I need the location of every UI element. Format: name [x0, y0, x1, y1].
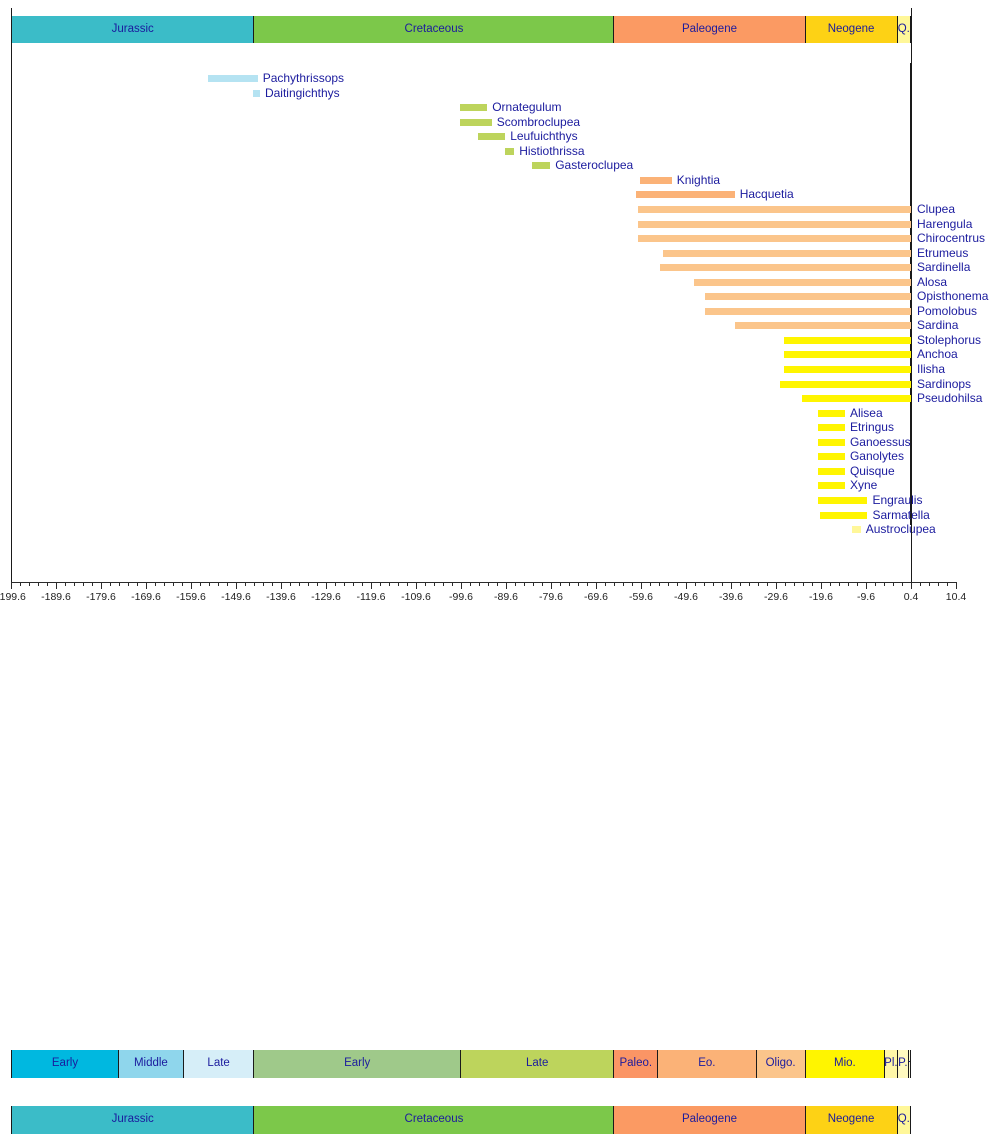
axis-major-tick	[146, 582, 147, 589]
period-cell-jurassic[interactable]: Jurassic	[11, 1106, 254, 1134]
axis-tick-label: -119.6	[357, 591, 386, 603]
epoch-cell-label: Late	[207, 1058, 229, 1070]
taxon-label: Leufuichthys	[510, 130, 577, 143]
period-cell-q[interactable]: Q.	[898, 1106, 911, 1134]
axis-minor-tick	[38, 582, 39, 586]
taxon-label: Quisque	[850, 465, 895, 478]
taxon-range-row[interactable]: Knightia	[12, 177, 910, 188]
axis-tick-label: -69.6	[584, 591, 608, 603]
axis-minor-tick	[164, 582, 165, 586]
taxon-range-bar[interactable]	[705, 308, 912, 315]
epoch-cell-label: Early	[52, 1058, 78, 1070]
axis-minor-tick	[488, 582, 489, 586]
axis-major-tick	[551, 582, 552, 589]
taxon-range-bar[interactable]	[784, 337, 912, 344]
axis-minor-tick	[353, 582, 354, 586]
axis-minor-tick	[767, 582, 768, 586]
taxon-range-bar[interactable]	[253, 90, 260, 97]
taxon-range-row[interactable]: Pomolobus	[12, 308, 910, 319]
axis-minor-tick	[128, 582, 129, 586]
axis-tick-label: -19.6	[809, 591, 833, 603]
axis-minor-tick	[218, 582, 219, 586]
axis-minor-tick	[470, 582, 471, 586]
taxon-label: Stolephorus	[917, 334, 981, 347]
axis-minor-tick	[515, 582, 516, 586]
axis-minor-tick	[20, 582, 21, 586]
axis-tick-label: -79.6	[539, 591, 563, 603]
taxon-range-row[interactable]: Ganolytes	[12, 453, 910, 464]
taxon-range-row[interactable]: Daitingichthys	[12, 90, 910, 101]
axis-major-tick	[56, 582, 57, 589]
axis-minor-tick	[560, 582, 561, 586]
period-cell-label: Jurassic	[112, 1114, 154, 1126]
taxon-label: Etrumeus	[917, 247, 968, 260]
taxon-range-bar[interactable]	[784, 366, 912, 373]
taxon-range-row[interactable]: Leufuichthys	[12, 133, 910, 144]
taxon-range-row[interactable]: Quisque	[12, 468, 910, 479]
taxon-range-row[interactable]: Sardina	[12, 322, 910, 333]
epoch-cell-label: P.	[898, 1058, 907, 1070]
axis-major-tick	[281, 582, 282, 589]
axis-minor-tick	[317, 582, 318, 586]
axis-major-tick	[191, 582, 192, 589]
axis-minor-tick	[344, 582, 345, 586]
axis-tick-label: -179.6	[86, 591, 116, 603]
epoch-cell-oligo[interactable]: Oligo.	[757, 1050, 806, 1078]
axis-major-tick	[461, 582, 462, 589]
axis-minor-tick	[569, 582, 570, 586]
axis-minor-tick	[119, 582, 120, 586]
axis-minor-tick	[623, 582, 624, 586]
taxon-range-bar[interactable]	[663, 250, 912, 257]
axis-tick-label: -29.6	[764, 591, 788, 603]
bottom-epoch-band: EarlyMiddleLateEarlyLatePaleo.Eo.Oligo.M…	[0, 525, 1000, 553]
axis-major-tick	[731, 582, 732, 589]
taxon-range-row[interactable]: Sarmatella	[12, 512, 910, 523]
axis-major-tick	[506, 582, 507, 589]
taxon-range-bar[interactable]	[802, 395, 912, 402]
taxon-label: Pseudohilsa	[917, 392, 982, 405]
top-epoch-band: EarlyMiddleLateEarlyLatePaleo.Eo.Oligo.M…	[0, 37, 1000, 63]
taxon-range-row[interactable]: Alosa	[12, 279, 910, 290]
taxon-label: Sardinella	[917, 261, 970, 274]
axis-minor-tick	[254, 582, 255, 586]
axis-minor-tick	[479, 582, 480, 586]
taxon-label: Engraulis	[872, 494, 922, 507]
epoch-cell-label: Paleo.	[619, 1058, 652, 1070]
bottom-period-band: JurassicCretaceousPaleogeneNeogeneQ.	[0, 553, 1000, 581]
axis-minor-tick	[443, 582, 444, 586]
taxon-range-bar[interactable]	[735, 322, 912, 329]
taxon-range-bar[interactable]	[636, 191, 735, 198]
axis-major-tick	[101, 582, 102, 589]
taxon-range-bar[interactable]	[818, 410, 845, 417]
taxon-range-row[interactable]: Gasteroclupea	[12, 162, 910, 173]
taxon-range-bar[interactable]	[460, 104, 487, 111]
axis-minor-tick	[713, 582, 714, 586]
axis-tick-label: 10.4	[946, 591, 966, 603]
axis-major-tick	[686, 582, 687, 589]
taxon-label: Alisea	[850, 407, 883, 420]
epoch-cell-label: Early	[344, 1058, 370, 1070]
period-cell-label: Q.	[898, 24, 910, 36]
taxon-label: Chirocentrus	[917, 232, 985, 245]
taxon-label: Sardina	[917, 319, 958, 332]
axis-minor-tick	[893, 582, 894, 586]
plot-right-border	[911, 8, 912, 582]
taxon-label: Ilisha	[917, 363, 945, 376]
axis-major-tick	[911, 582, 912, 589]
stratigraphic-range-chart: JurassicCretaceousPaleogeneNeogeneQ. Ear…	[0, 0, 1000, 630]
epoch-cell-middle[interactable]: Middle	[119, 1050, 184, 1078]
axis-minor-tick	[533, 582, 534, 586]
axis-minor-tick	[110, 582, 111, 586]
axis-minor-tick	[47, 582, 48, 586]
axis-major-tick	[866, 582, 867, 589]
taxon-label: Etringus	[850, 421, 894, 434]
taxon-range-row[interactable]: Hacquetia	[12, 191, 910, 202]
axis-minor-tick	[875, 582, 876, 586]
taxon-label: Histiothrissa	[519, 145, 584, 158]
axis-tick-label: -129.6	[311, 591, 341, 603]
taxon-range-row[interactable]: Etrumeus	[12, 250, 910, 261]
axis-minor-tick	[902, 582, 903, 586]
taxon-label: Anchoa	[917, 348, 958, 361]
axis-minor-tick	[704, 582, 705, 586]
axis-major-tick	[776, 582, 777, 589]
taxon-range-bar[interactable]	[638, 235, 912, 242]
axis-minor-tick	[92, 582, 93, 586]
axis-minor-tick	[785, 582, 786, 586]
axis-minor-tick	[758, 582, 759, 586]
taxon-label: Sarmatella	[872, 509, 929, 522]
axis-tick-label: -199.6	[0, 591, 26, 603]
axis-minor-tick	[578, 582, 579, 586]
axis-minor-tick	[173, 582, 174, 586]
axis-minor-tick	[299, 582, 300, 586]
taxon-range-bar[interactable]	[705, 293, 912, 300]
axis-minor-tick	[587, 582, 588, 586]
taxon-range-row[interactable]: Alisea	[12, 410, 910, 421]
axis-tick-label: -189.6	[41, 591, 71, 603]
axis-major-tick	[956, 582, 957, 589]
taxon-range-bar[interactable]	[818, 497, 868, 504]
axis-tick-label: -89.6	[494, 591, 518, 603]
taxon-label: Pachythrissops	[263, 72, 344, 85]
period-cell-label: Cretaceous	[405, 1114, 464, 1126]
axis-tick-label: -109.6	[401, 591, 431, 603]
axis-minor-tick	[803, 582, 804, 586]
taxon-range-bar[interactable]	[818, 439, 845, 446]
epoch-cell-late[interactable]: Late	[184, 1050, 255, 1078]
axis-tick-label: -149.6	[221, 591, 251, 603]
axis-major-tick	[326, 582, 327, 589]
epoch-cell-label: Pl.	[885, 1058, 897, 1070]
axis-minor-tick	[884, 582, 885, 586]
taxon-range-bar[interactable]	[818, 424, 845, 431]
axis-minor-tick	[200, 582, 201, 586]
period-cell-label: Neogene	[828, 24, 875, 36]
taxon-range-bar[interactable]	[638, 206, 912, 213]
axis-minor-tick	[65, 582, 66, 586]
axis-minor-tick	[227, 582, 228, 586]
axis-minor-tick	[650, 582, 651, 586]
taxon-range-bar[interactable]	[820, 512, 867, 519]
epoch-cell-early[interactable]: Early	[254, 1050, 461, 1078]
epoch-cell-mio[interactable]: Mio.	[806, 1050, 886, 1078]
taxon-label: Harengula	[917, 218, 972, 231]
axis-major-tick	[821, 582, 822, 589]
axis-minor-tick	[749, 582, 750, 586]
axis-minor-tick	[452, 582, 453, 586]
axis-minor-tick	[929, 582, 930, 586]
period-cell-label: Paleogene	[682, 24, 737, 36]
taxon-range-bar[interactable]	[460, 119, 492, 126]
axis-minor-tick	[245, 582, 246, 586]
taxon-label: Hacquetia	[740, 188, 794, 201]
axis-major-tick	[641, 582, 642, 589]
period-cell-cretaceous[interactable]: Cretaceous	[254, 1106, 614, 1134]
taxon-label: Gasteroclupea	[555, 159, 633, 172]
axis-minor-tick	[182, 582, 183, 586]
taxon-label: Ganolytes	[850, 450, 904, 463]
taxon-range-row[interactable]: Scombroclupea	[12, 119, 910, 130]
period-cell-label: Cretaceous	[405, 24, 464, 36]
axis-minor-tick	[29, 582, 30, 586]
taxon-range-bar[interactable]	[784, 351, 912, 358]
axis-minor-tick	[407, 582, 408, 586]
epoch-cell-label: Late	[526, 1058, 548, 1070]
axis-minor-tick	[830, 582, 831, 586]
taxon-range-bar[interactable]	[640, 177, 672, 184]
axis-minor-tick	[920, 582, 921, 586]
axis-major-tick	[416, 582, 417, 589]
taxon-range-bar[interactable]	[780, 381, 912, 388]
axis-tick-label: -9.6	[857, 591, 875, 603]
taxon-range-bar[interactable]	[532, 162, 550, 169]
period-cell-label: Jurassic	[112, 24, 154, 36]
axis-minor-tick	[605, 582, 606, 586]
taxon-range-bar[interactable]	[660, 264, 912, 271]
taxon-label: Sardinops	[917, 378, 971, 391]
plot-left-border	[11, 8, 12, 582]
taxon-range-bar[interactable]	[818, 468, 845, 475]
epoch-cell-late[interactable]: Late	[461, 1050, 614, 1078]
axis-minor-tick	[668, 582, 669, 586]
taxon-range-row[interactable]: Ornategulum	[12, 104, 910, 115]
epoch-cell-p[interactable]: P.	[898, 1050, 910, 1078]
taxon-range-row[interactable]: Clupea	[12, 206, 910, 217]
time-axis: -199.6-189.6-179.6-169.6-159.6-149.6-139…	[0, 582, 1000, 622]
period-cell-label: Paleogene	[682, 1114, 737, 1126]
taxon-range-row[interactable]: Sardinella	[12, 264, 910, 275]
epoch-cell-paleo[interactable]: Paleo.	[614, 1050, 658, 1078]
taxon-range-bar[interactable]	[638, 221, 912, 228]
axis-line	[11, 582, 956, 583]
axis-tick-label: -59.6	[629, 591, 653, 603]
axis-minor-tick	[632, 582, 633, 586]
taxon-label: Scombroclupea	[497, 116, 580, 129]
axis-minor-tick	[740, 582, 741, 586]
axis-tick-label: -169.6	[131, 591, 161, 603]
axis-minor-tick	[659, 582, 660, 586]
taxon-label: Clupea	[917, 203, 955, 216]
axis-minor-tick	[398, 582, 399, 586]
plot-area: PachythrissopsDaitingichthysOrnategulumS…	[11, 63, 911, 525]
axis-minor-tick	[425, 582, 426, 586]
axis-minor-tick	[290, 582, 291, 586]
axis-minor-tick	[812, 582, 813, 586]
axis-minor-tick	[272, 582, 273, 586]
taxon-range-bar[interactable]	[208, 75, 258, 82]
axis-minor-tick	[839, 582, 840, 586]
taxon-label: Ganoessus	[850, 436, 911, 449]
top-period-band: JurassicCretaceousPaleogeneNeogeneQ.	[0, 8, 1000, 35]
epoch-cell-label: Oligo.	[766, 1058, 796, 1070]
taxon-range-row[interactable]: Engraulis	[12, 497, 910, 508]
axis-minor-tick	[155, 582, 156, 586]
axis-minor-tick	[389, 582, 390, 586]
axis-minor-tick	[938, 582, 939, 586]
axis-tick-label: -99.6	[449, 591, 473, 603]
axis-minor-tick	[614, 582, 615, 586]
axis-minor-tick	[677, 582, 678, 586]
taxon-range-bar[interactable]	[694, 279, 912, 286]
period-cell-label: Neogene	[828, 1114, 875, 1126]
taxon-label: Pomolobus	[917, 305, 977, 318]
axis-minor-tick	[137, 582, 138, 586]
epoch-cell-eo[interactable]: Eo.	[658, 1050, 757, 1078]
axis-minor-tick	[722, 582, 723, 586]
axis-minor-tick	[380, 582, 381, 586]
taxon-label: Ornategulum	[492, 101, 561, 114]
taxon-range-bar[interactable]	[478, 133, 505, 140]
taxon-range-row[interactable]: Xyne	[12, 482, 910, 493]
taxon-range-row[interactable]: Harengula	[12, 221, 910, 232]
taxon-label: Daitingichthys	[265, 87, 340, 100]
taxon-range-row[interactable]: Ganoessus	[12, 439, 910, 450]
axis-minor-tick	[362, 582, 363, 586]
taxon-range-row[interactable]: Etringus	[12, 424, 910, 435]
taxon-range-bar[interactable]	[818, 453, 845, 460]
epoch-cell-label: Mio.	[834, 1058, 856, 1070]
taxon-range-bar[interactable]	[505, 148, 514, 155]
taxon-range-row[interactable]: Histiothrissa	[12, 148, 910, 159]
taxon-label: Alosa	[917, 276, 947, 289]
taxon-range-row[interactable]: Chirocentrus	[12, 235, 910, 246]
axis-tick-label: -159.6	[176, 591, 206, 603]
axis-major-tick	[371, 582, 372, 589]
axis-major-tick	[236, 582, 237, 589]
axis-tick-label: -49.6	[674, 591, 698, 603]
epoch-cell-label: Eo.	[698, 1058, 715, 1070]
axis-major-tick	[11, 582, 12, 589]
axis-tick-label: -39.6	[719, 591, 743, 603]
taxon-range-bar[interactable]	[818, 482, 845, 489]
taxon-range-row[interactable]: Opisthonema	[12, 293, 910, 304]
axis-minor-tick	[857, 582, 858, 586]
taxon-range-row[interactable]: Stolephorus	[12, 337, 910, 348]
period-cell-label: Q.	[898, 1114, 910, 1126]
axis-major-tick	[596, 582, 597, 589]
taxon-range-row[interactable]: Pseudohilsa	[12, 395, 910, 406]
epoch-cell-early[interactable]: Early	[11, 1050, 119, 1078]
axis-minor-tick	[335, 582, 336, 586]
axis-minor-tick	[695, 582, 696, 586]
axis-minor-tick	[848, 582, 849, 586]
epoch-cell-label: Middle	[134, 1058, 168, 1070]
taxon-range-row[interactable]: Pachythrissops	[12, 75, 910, 86]
axis-minor-tick	[263, 582, 264, 586]
period-cell-neogene[interactable]: Neogene	[806, 1106, 898, 1134]
epoch-cell-h[interactable]: H.	[909, 1050, 911, 1078]
axis-minor-tick	[497, 582, 498, 586]
axis-minor-tick	[308, 582, 309, 586]
taxon-label: Opisthonema	[917, 290, 988, 303]
taxon-range-row[interactable]: Ilisha	[12, 366, 910, 377]
axis-minor-tick	[947, 582, 948, 586]
axis-tick-label: -139.6	[266, 591, 296, 603]
axis-minor-tick	[542, 582, 543, 586]
axis-minor-tick	[434, 582, 435, 586]
epoch-cell-label: H.	[909, 1058, 911, 1070]
axis-tick-label: 0.4	[904, 591, 919, 603]
axis-minor-tick	[83, 582, 84, 586]
taxon-range-row[interactable]: Anchoa	[12, 351, 910, 362]
axis-minor-tick	[209, 582, 210, 586]
epoch-cell-pl[interactable]: Pl.	[885, 1050, 897, 1078]
axis-minor-tick	[794, 582, 795, 586]
axis-minor-tick	[524, 582, 525, 586]
taxon-label: Knightia	[677, 174, 720, 187]
taxon-label: Xyne	[850, 479, 877, 492]
period-cell-paleogene[interactable]: Paleogene	[614, 1106, 805, 1134]
taxon-range-row[interactable]: Sardinops	[12, 381, 910, 392]
axis-minor-tick	[74, 582, 75, 586]
